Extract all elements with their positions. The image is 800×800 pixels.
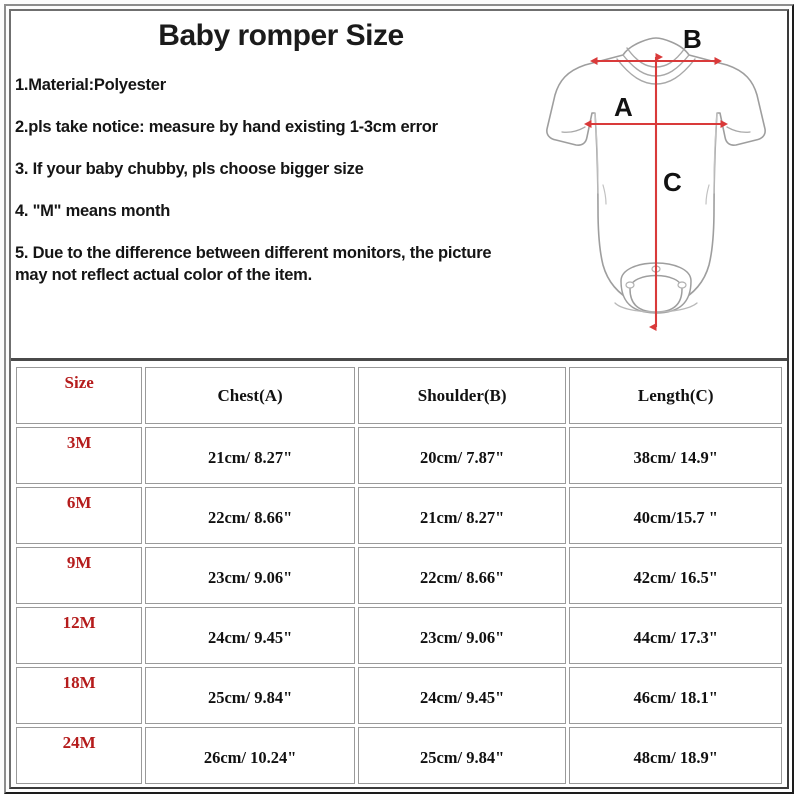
- romper-diagram: B A C: [531, 17, 781, 352]
- row-shoulder-cell: 22cm/ 8.66": [358, 547, 567, 604]
- row-size-cell: 24M: [16, 727, 142, 784]
- row-shoulder-cell: 23cm/ 9.06": [358, 607, 567, 664]
- header-cell-shoulder: Shoulder(B): [358, 367, 567, 424]
- shoulder-value: 22cm/ 8.66": [359, 568, 566, 588]
- size-label: 18M: [17, 673, 141, 693]
- size-label: 6M: [17, 493, 141, 513]
- header-label-length: Length(C): [570, 386, 781, 406]
- shoulder-value: 23cm/ 9.06": [359, 628, 566, 648]
- row-length-cell: 42cm/ 16.5": [569, 547, 782, 604]
- size-label: 9M: [17, 553, 141, 573]
- table-row: 24M 26cm/ 10.24" 25cm/ 9.84" 48cm/ 18.9": [16, 727, 782, 784]
- dimension-label-b: B: [683, 24, 702, 54]
- shoulder-value: 20cm/ 7.87": [359, 448, 566, 468]
- row-chest-cell: 21cm/ 8.27": [145, 427, 355, 484]
- length-value: 42cm/ 16.5": [570, 568, 781, 588]
- row-size-cell: 9M: [16, 547, 142, 604]
- header-label-shoulder: Shoulder(B): [359, 386, 566, 406]
- dimension-label-c: C: [663, 167, 682, 197]
- row-size-cell: 18M: [16, 667, 142, 724]
- note-line-1: 1.Material:Polyester: [15, 75, 525, 96]
- note-line-3: 3. If your baby chubby, pls choose bigge…: [15, 159, 525, 180]
- notes-list: 1.Material:Polyester 2.pls take notice: …: [15, 75, 525, 286]
- shoulder-value: 25cm/ 9.84": [359, 748, 566, 768]
- row-shoulder-cell: 24cm/ 9.45": [358, 667, 567, 724]
- length-value: 40cm/15.7 ": [570, 508, 781, 528]
- row-chest-cell: 23cm/ 9.06": [145, 547, 355, 604]
- chest-value: 26cm/ 10.24": [146, 748, 354, 768]
- table-row: 18M 25cm/ 9.84" 24cm/ 9.45" 46cm/ 18.1": [16, 667, 782, 724]
- info-panel: Baby romper Size 1.Material:Polyester 2.…: [11, 11, 787, 360]
- table-row: 9M 23cm/ 9.06" 22cm/ 8.66" 42cm/ 16.5": [16, 547, 782, 604]
- row-shoulder-cell: 25cm/ 9.84": [358, 727, 567, 784]
- page-title: Baby romper Size: [11, 19, 551, 53]
- panel-table-divider: [11, 358, 787, 361]
- chest-value: 24cm/ 9.45": [146, 628, 354, 648]
- shoulder-value: 24cm/ 9.45": [359, 688, 566, 708]
- size-table: Size Chest(A) Shoulder(B) Length(C) 3M 2…: [13, 364, 785, 787]
- row-length-cell: 44cm/ 17.3": [569, 607, 782, 664]
- size-chart-image: Baby romper Size 1.Material:Polyester 2.…: [0, 0, 800, 800]
- note-line-4: 4. "M" means month: [15, 201, 525, 222]
- length-value: 46cm/ 18.1": [570, 688, 781, 708]
- row-chest-cell: 22cm/ 8.66": [145, 487, 355, 544]
- size-label: 12M: [17, 613, 141, 633]
- shoulder-value: 21cm/ 8.27": [359, 508, 566, 528]
- length-value: 44cm/ 17.3": [570, 628, 781, 648]
- row-size-cell: 6M: [16, 487, 142, 544]
- size-label: 24M: [17, 733, 141, 753]
- row-chest-cell: 24cm/ 9.45": [145, 607, 355, 664]
- chest-value: 21cm/ 8.27": [146, 448, 354, 468]
- note-line-5: 5. Due to the difference between differe…: [15, 243, 525, 285]
- header-label-size: Size: [17, 373, 141, 393]
- header-cell-size: Size: [16, 367, 142, 424]
- dimension-label-a: A: [614, 92, 633, 122]
- row-length-cell: 38cm/ 14.9": [569, 427, 782, 484]
- row-length-cell: 48cm/ 18.9": [569, 727, 782, 784]
- row-shoulder-cell: 21cm/ 8.27": [358, 487, 567, 544]
- size-label: 3M: [17, 433, 141, 453]
- row-chest-cell: 26cm/ 10.24": [145, 727, 355, 784]
- row-size-cell: 12M: [16, 607, 142, 664]
- length-value: 38cm/ 14.9": [570, 448, 781, 468]
- romper-diagram-svg: B A C: [531, 17, 781, 352]
- row-length-cell: 40cm/15.7 ": [569, 487, 782, 544]
- header-cell-length: Length(C): [569, 367, 782, 424]
- row-shoulder-cell: 20cm/ 7.87": [358, 427, 567, 484]
- note-line-2: 2.pls take notice: measure by hand exist…: [15, 117, 525, 138]
- table-header-row: Size Chest(A) Shoulder(B) Length(C): [16, 367, 782, 424]
- row-chest-cell: 25cm/ 9.84": [145, 667, 355, 724]
- table-row: 6M 22cm/ 8.66" 21cm/ 8.27" 40cm/15.7 ": [16, 487, 782, 544]
- chest-value: 23cm/ 9.06": [146, 568, 354, 588]
- table-row: 12M 24cm/ 9.45" 23cm/ 9.06" 44cm/ 17.3": [16, 607, 782, 664]
- length-value: 48cm/ 18.9": [570, 748, 781, 768]
- chest-value: 22cm/ 8.66": [146, 508, 354, 528]
- chest-value: 25cm/ 9.84": [146, 688, 354, 708]
- row-size-cell: 3M: [16, 427, 142, 484]
- row-length-cell: 46cm/ 18.1": [569, 667, 782, 724]
- table-row: 3M 21cm/ 8.27" 20cm/ 7.87" 38cm/ 14.9": [16, 427, 782, 484]
- header-label-chest: Chest(A): [146, 386, 354, 406]
- header-cell-chest: Chest(A): [145, 367, 355, 424]
